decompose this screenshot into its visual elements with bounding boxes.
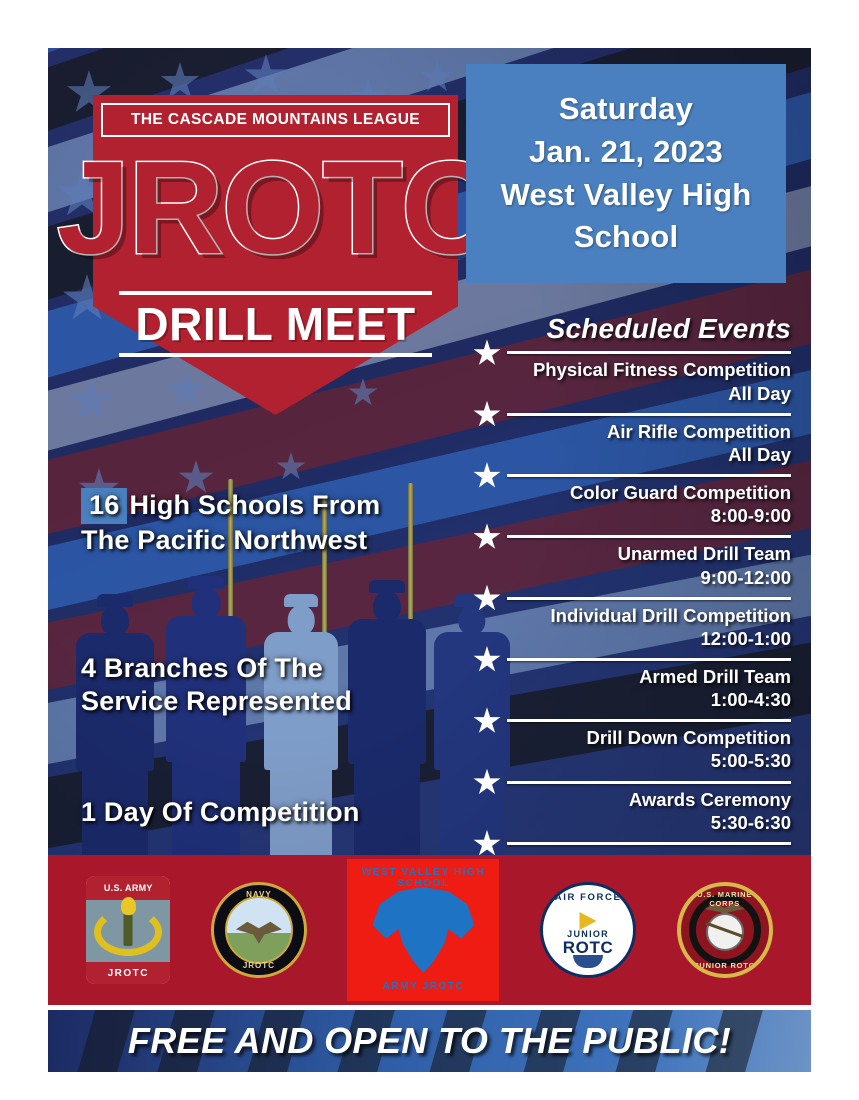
schedule-divider xyxy=(473,714,791,727)
stat-text2-16: The Pacific Northwest xyxy=(81,525,367,555)
event-venue-line2: School xyxy=(574,217,679,258)
event-name: Awards Ceremony xyxy=(507,789,791,811)
schedule-divider xyxy=(473,837,791,850)
divider-rule xyxy=(507,474,791,477)
schedule-divider xyxy=(473,408,791,421)
schedule-divider xyxy=(473,530,791,543)
event-name: Physical Fitness Competition xyxy=(507,359,791,381)
event-date-venue-box: Saturday Jan. 21, 2023 West Valley High … xyxy=(466,64,786,283)
navy-jrotc-emblem: NAVY JROTC xyxy=(211,882,307,978)
lamp-of-knowledge-icon xyxy=(573,955,603,968)
schedule-divider xyxy=(473,469,791,482)
stat-text-1: Day Of Competition xyxy=(104,797,360,827)
divider-bottom xyxy=(119,353,432,357)
poster-page: THE CASCADE MOUNTAINS LEAGUE JROTC DRILL… xyxy=(0,0,859,1100)
schedule-item: Drill Down Competition5:00-5:30 xyxy=(473,727,791,772)
torch-icon xyxy=(124,906,133,946)
schedule-item: Physical Fitness CompetitionAll Day xyxy=(473,359,791,404)
event-time: 5:30-6:30 xyxy=(507,811,791,834)
af-top-label: AIR FORCE xyxy=(543,892,633,903)
west-valley-high-school-emblem: WEST VALLEY HIGH SCHOOL ARMY JROTC xyxy=(347,859,499,1001)
divider-rule xyxy=(507,351,791,354)
schedule-item: Awards Ceremony5:30-6:30 xyxy=(473,789,791,834)
army-jrotc-emblem: U.S. ARMY JROTC xyxy=(86,876,170,984)
footer-banner: FREE AND OPEN TO THE PUBLIC! xyxy=(48,1010,811,1072)
stat-day-of-competition: 1 Day Of Competition xyxy=(81,796,461,829)
event-time: All Day xyxy=(507,443,791,466)
flame-icon xyxy=(121,897,136,915)
stat-branches: 4 Branches Of The Service Represented xyxy=(81,652,451,718)
event-time: 8:00-9:00 xyxy=(507,504,791,527)
usmc-top-label: U.S. MARINE CORPS xyxy=(681,890,769,908)
event-date: Jan. 21, 2023 xyxy=(529,132,723,173)
divider-rule xyxy=(507,658,791,661)
chevron-icon xyxy=(580,912,597,930)
schedule-item: Air Rifle CompetitionAll Day xyxy=(473,421,791,466)
army-emblem-bottom-label: JROTC xyxy=(86,962,170,984)
schedule-divider xyxy=(473,592,791,605)
scheduled-events-section: Scheduled Events Physical Fitness Compet… xyxy=(473,314,791,850)
wvhs-bottom-label: ARMY JROTC xyxy=(347,981,499,992)
league-banner: THE CASCADE MOUNTAINS LEAGUE xyxy=(101,103,450,137)
air-force-jrotc-icon: AIR FORCE JUNIOR ROTC xyxy=(540,882,636,978)
divider-rule xyxy=(507,781,791,784)
stat-text-16: High Schools From xyxy=(129,490,380,520)
air-force-junior-rotc-emblem: AIR FORCE JUNIOR ROTC xyxy=(540,882,636,978)
navy-emblem-top-label: NAVY xyxy=(214,890,304,899)
event-time: 9:00-12:00 xyxy=(507,566,791,589)
schedule-header: Scheduled Events xyxy=(473,314,791,343)
service-emblem-band: U.S. ARMY JROTC NAVY JROTC WEST VALLEY H… xyxy=(48,855,811,1005)
schedule-item: Unarmed Drill Team9:00-12:00 xyxy=(473,543,791,588)
event-venue-line1: West Valley High xyxy=(501,175,752,216)
schedule-item: Armed Drill Team1:00-4:30 xyxy=(473,666,791,711)
navy-jrotc-icon: NAVY JROTC xyxy=(211,882,307,978)
drill-meet-label: DRILL MEET xyxy=(119,295,432,353)
schedule-divider xyxy=(473,653,791,666)
event-time: 5:00-5:30 xyxy=(507,749,791,772)
event-name: Air Rifle Competition xyxy=(507,421,791,443)
jrotc-drill-meet-poster: THE CASCADE MOUNTAINS LEAGUE JROTC DRILL… xyxy=(48,48,811,1072)
schedule-list: Physical Fitness CompetitionAll DayAir R… xyxy=(473,346,791,850)
wvhs-top-label: WEST VALLEY HIGH SCHOOL xyxy=(347,867,499,889)
stat-text-4: Branches Of The xyxy=(104,653,323,683)
drill-meet-block: DRILL MEET xyxy=(119,291,432,357)
schedule-item: Individual Drill Competition12:00-1:00 xyxy=(473,605,791,650)
wvhs-army-jrotc-icon: WEST VALLEY HIGH SCHOOL ARMY JROTC xyxy=(347,859,499,1001)
stat-number-1: 1 xyxy=(81,797,96,827)
usmc-jrotc-icon: U.S. MARINE CORPS JUNIOR ROTC xyxy=(677,882,773,978)
divider-rule xyxy=(507,535,791,538)
event-name: Unarmed Drill Team xyxy=(507,543,791,565)
schedule-item: Color Guard Competition8:00-9:00 xyxy=(473,482,791,527)
event-name: Drill Down Competition xyxy=(507,727,791,749)
stat-high-schools: 16High Schools From The Pacific Northwes… xyxy=(81,488,451,557)
footer-text: FREE AND OPEN TO THE PUBLIC! xyxy=(48,1020,811,1062)
event-name: Individual Drill Competition xyxy=(507,605,791,627)
event-time: 12:00-1:00 xyxy=(507,627,791,650)
schedule-title: Scheduled Events xyxy=(507,314,791,343)
divider-rule xyxy=(507,719,791,722)
event-time: All Day xyxy=(507,382,791,405)
divider-rule xyxy=(507,842,791,845)
usmc-bottom-label: JUNIOR ROTC xyxy=(681,961,769,970)
event-day: Saturday xyxy=(559,89,693,130)
stat-number-16: 16 xyxy=(81,488,127,524)
divider-rule xyxy=(507,597,791,600)
ram-mascot-icon xyxy=(371,887,475,973)
navy-emblem-bottom-label: JROTC xyxy=(214,961,304,970)
schedule-divider xyxy=(473,776,791,789)
schedule-divider xyxy=(473,346,791,359)
stat-number-4: 4 xyxy=(81,653,96,683)
league-label: THE CASCADE MOUNTAINS LEAGUE xyxy=(131,111,420,129)
divider-rule xyxy=(507,413,791,416)
event-name: Armed Drill Team xyxy=(507,666,791,688)
army-jrotc-icon: U.S. ARMY JROTC xyxy=(86,876,170,984)
event-time: 1:00-4:30 xyxy=(507,688,791,711)
jrotc-logo: THE CASCADE MOUNTAINS LEAGUE JROTC DRILL… xyxy=(93,95,458,415)
army-emblem-torch-wreath xyxy=(86,900,170,962)
marine-corps-junior-rotc-emblem: U.S. MARINE CORPS JUNIOR ROTC xyxy=(677,882,773,978)
event-name: Color Guard Competition xyxy=(507,482,791,504)
jrotc-acronym: JROTC xyxy=(93,133,458,283)
stat-text2-4: Service Represented xyxy=(81,686,352,716)
